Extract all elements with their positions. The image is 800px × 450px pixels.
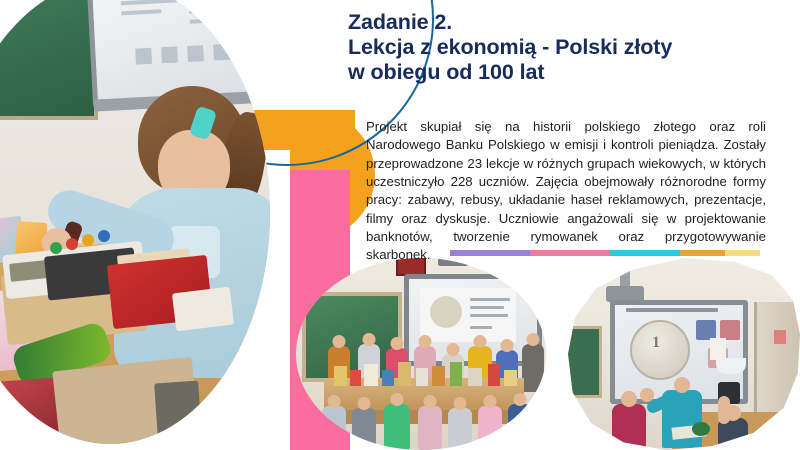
- color-bar-segment-light-yellow: [725, 250, 760, 256]
- color-bar-segment-pink: [530, 250, 610, 256]
- title-line-1: Zadanie 2.: [348, 10, 788, 35]
- slide-root: Zadanie 2. Lekcja z ekonomią - Polski zł…: [0, 0, 800, 450]
- slide-title: Zadanie 2. Lekcja z ekonomią - Polski zł…: [348, 10, 788, 85]
- color-bar-segment-cyan: [610, 250, 680, 256]
- color-accent-bar: [450, 250, 760, 256]
- title-line-2: Lekcja z ekonomią - Polski złoty: [348, 35, 788, 60]
- title-line-3: w obiegu od 100 lat: [348, 60, 788, 85]
- color-bar-segment-purple: [450, 250, 530, 256]
- photo-lesson-whiteboard-coin: 1: [568, 258, 800, 450]
- color-bar-segment-orange: [680, 250, 725, 256]
- hero-photo-girl-cash-register: [0, 0, 300, 450]
- slide-body-paragraph: Projekt skupiał się na historii polskieg…: [366, 118, 766, 264]
- photo-class-group-with-products: [296, 258, 546, 450]
